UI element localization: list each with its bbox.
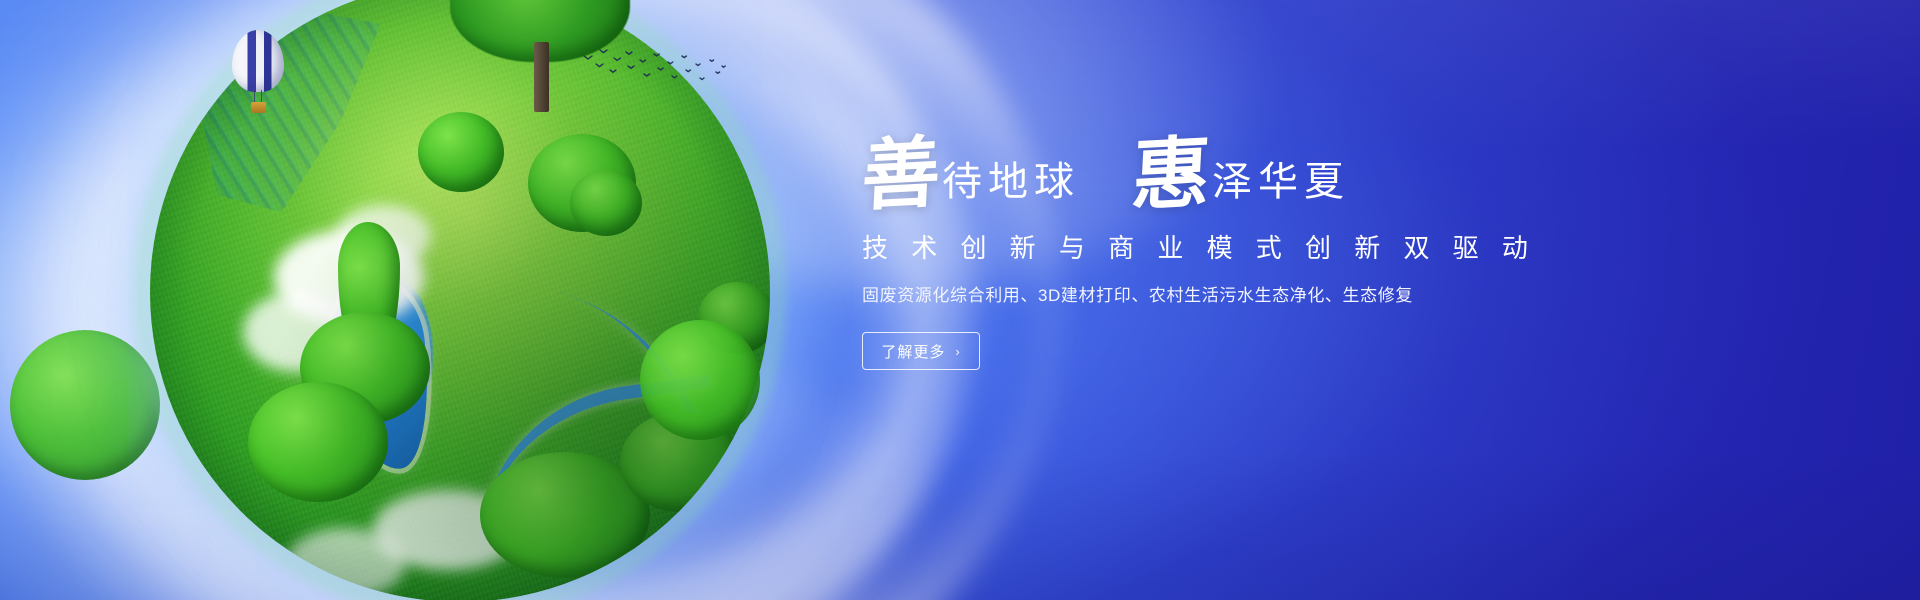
headline-rest-1: 待地球 xyxy=(942,162,1080,212)
description: 固废资源化综合利用、3D建材打印、农村生活污水生态净化、生态修复 xyxy=(862,281,1462,306)
balloon-basket xyxy=(251,102,266,113)
headline-brush-char-2: 惠 xyxy=(1130,136,1212,214)
headline-brush-char-1: 善 xyxy=(860,136,942,214)
tree-crown xyxy=(10,330,160,480)
tree-trunk xyxy=(534,42,549,112)
learn-more-label: 了解更多 xyxy=(881,341,945,362)
hero-banner: 善 待地球 惠 泽华夏 技 术 创 新 与 商 业 模 式 创 新 双 驱 动 … xyxy=(0,0,1920,600)
hero-copy: 善 待地球 惠 泽华夏 技 术 创 新 与 商 业 模 式 创 新 双 驱 动 … xyxy=(862,120,1462,370)
balloon-envelope xyxy=(232,30,284,92)
headline-rest-2: 泽华夏 xyxy=(1212,162,1350,212)
chevron-right-icon: › xyxy=(955,344,960,359)
trees-decoration xyxy=(10,330,160,500)
page-title: 善 待地球 惠 泽华夏 xyxy=(862,120,1462,212)
birds-flock-icon xyxy=(580,46,730,94)
learn-more-button[interactable]: 了解更多 › xyxy=(862,332,980,370)
trees-decoration xyxy=(640,320,760,450)
tree-crown xyxy=(640,320,760,440)
hot-air-balloon-icon xyxy=(232,30,284,116)
tagline: 技 术 创 新 与 商 业 模 式 创 新 双 驱 动 xyxy=(862,228,1462,265)
